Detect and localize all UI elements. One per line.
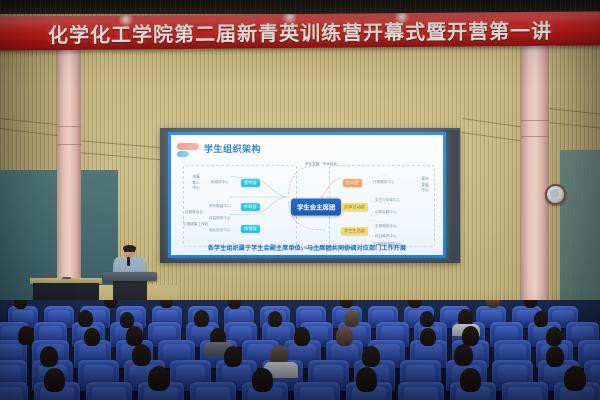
- audience-member: [148, 366, 170, 391]
- pillar-seam: [57, 144, 81, 145]
- audience-member: [160, 300, 173, 308]
- table-object: [62, 277, 71, 279]
- audience-member: [44, 368, 65, 392]
- mindmap-leaf: 心理健康工作站: [183, 223, 208, 227]
- right-group-label: 青年 发展 中心: [415, 177, 435, 194]
- seat: [190, 382, 236, 400]
- slide-caption: 各学生组织属于学生会副主席单位，与主席团共同协调对应部门工作开展: [171, 243, 443, 252]
- seat: [86, 382, 132, 400]
- audience-member: [78, 310, 93, 327]
- audience-member: [228, 300, 241, 309]
- mindmap-leaf: 青年融媒中心: [209, 205, 231, 209]
- banner-title-text: 化学化工学院第二届新青英训练营开幕式暨开营第一讲: [48, 14, 552, 47]
- mindmap-node: 学生生活部: [341, 227, 368, 235]
- audience-member: [356, 367, 377, 392]
- left-pillar: [57, 16, 81, 316]
- mindmap-center-node: 学生会主席团: [291, 199, 341, 216]
- mindmap-leaf: 创新实践中心: [375, 211, 397, 215]
- audience-member: [18, 326, 34, 345]
- audience-member: [524, 300, 537, 308]
- audience-member: [420, 311, 434, 327]
- audience-member: [340, 300, 353, 308]
- mindmap-node: 办公室: [343, 179, 362, 187]
- mindmap-leaf: 新媒体中心: [211, 181, 229, 185]
- mindmap-leaf: 志愿服务中心: [375, 225, 397, 229]
- presentation-slide: 学生组织架构: [168, 132, 446, 258]
- wall-clock-icon: [545, 184, 566, 205]
- mindmap-leaf: 社团联合会: [185, 211, 203, 215]
- audience-member: [194, 310, 209, 327]
- pillar-seam: [521, 136, 549, 137]
- mindmap-leaf: 就业创业中心: [209, 229, 231, 233]
- left-group-label: 求真 育人 中心: [185, 175, 207, 192]
- audience-member: [104, 300, 118, 308]
- audience-member: [546, 327, 562, 346]
- microphone-icon: [127, 257, 130, 266]
- slide-title-accent-icon: [177, 143, 199, 150]
- right-teal-wall: [560, 150, 600, 320]
- auditorium-scene: 化学化工学院第二届新青英训练营开幕式暨开营第一讲 学生组织架构: [0, 0, 600, 400]
- audience-area: [0, 300, 600, 400]
- slide-content: 学生组织架构: [171, 135, 443, 255]
- audience-member: [224, 346, 242, 367]
- audience-member: [546, 346, 564, 367]
- audience-member: [564, 366, 586, 391]
- audience-member: [132, 344, 151, 366]
- right-pillar: [521, 16, 549, 316]
- slide-title-accent2-icon: [177, 151, 189, 157]
- seat: [398, 382, 444, 400]
- audience-member: [84, 328, 100, 346]
- mindmap-node: 体育部: [241, 225, 260, 233]
- audience-member: [268, 311, 282, 327]
- audience-member: [420, 328, 436, 346]
- audience-member: [40, 346, 58, 367]
- audience-member: [462, 326, 479, 346]
- audience-member: [14, 300, 27, 309]
- audience-member: [126, 326, 143, 346]
- audience-member: [460, 368, 481, 392]
- audience-member: [294, 327, 310, 346]
- mindmap-leaf: 文艺与体育中心: [375, 199, 400, 203]
- mindmap-node: 文体活动部: [341, 203, 368, 211]
- pillar-seam: [521, 120, 549, 121]
- seat: [294, 382, 340, 400]
- pillar-seam: [57, 126, 81, 127]
- audience-member: [362, 346, 380, 367]
- audience-member: [454, 344, 473, 366]
- mindmap: 求真 育人 中心 新媒体中心 青年融媒中心 社团联合会 心理健康工作站 权益服务…: [183, 161, 433, 233]
- audience-member: [344, 310, 359, 327]
- podium-top-surface: [103, 272, 157, 281]
- mindmap-node: 外联部: [241, 203, 260, 211]
- table-object: [44, 276, 56, 278]
- audience-member: [534, 311, 548, 327]
- mindmap-node: 宣传部: [241, 179, 260, 187]
- event-banner: 化学化工学院第二届新青英训练营开幕式暨开营第一讲: [0, 11, 600, 50]
- seat: [0, 382, 28, 400]
- mindmap-leaf: 权益服务中心: [209, 217, 231, 221]
- audience-member: [252, 368, 273, 392]
- seat: [502, 382, 548, 400]
- presenter-hair: [123, 245, 136, 251]
- mindmap-leaf: 行政服务中心: [373, 181, 395, 185]
- audience-member: [336, 326, 353, 346]
- mindmap-leaf: 权益维护中心: [375, 235, 397, 239]
- clock-face: [550, 189, 559, 198]
- mindmap-top-leaf: 学业发展 · 学术科创: [305, 163, 337, 167]
- slide-title: 学生组织架构: [204, 142, 261, 155]
